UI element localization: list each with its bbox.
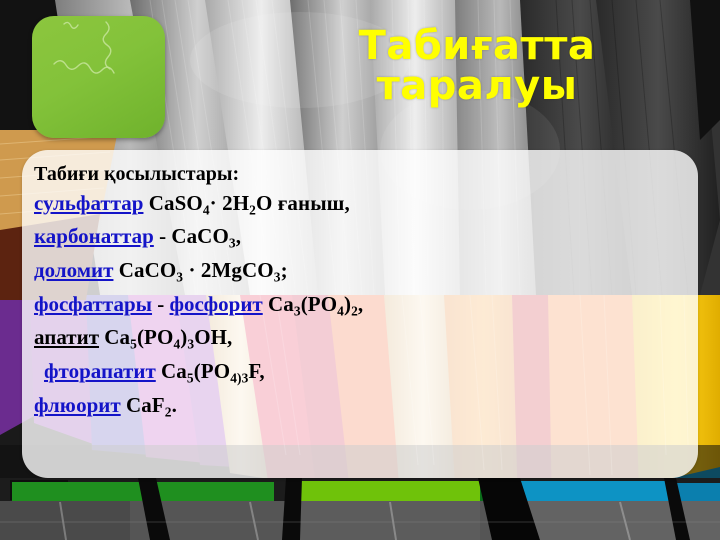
list-item: фторапатит Ca5(PO4)3F, [34, 360, 680, 383]
separator [143, 191, 148, 215]
term-link-phosphates[interactable]: фосфаттары [34, 292, 152, 316]
green-decorative-card [32, 16, 165, 138]
formula-caso4-2h2o: CaSO4· 2H2O ғаныш, [149, 191, 350, 215]
separator [113, 258, 118, 282]
slide: Табиғатта таралуы Табиғи қосылыстары: су… [0, 0, 720, 540]
separator: - [152, 292, 170, 316]
term-link-dolomite[interactable]: доломит [34, 258, 113, 282]
term-link-phosphorite[interactable]: фосфорит [170, 292, 263, 316]
term-link-carbonates[interactable]: карбонаттар [34, 224, 154, 248]
term-link-fluorapatite[interactable]: фторапатит [44, 359, 156, 383]
formula-caco3-2mgco3: CaCO3 · 2MgCO3; [119, 258, 288, 282]
content-heading: Табиғи қосылыстары: [34, 164, 680, 186]
formula-ca5po43oh: Ca5(PO4)3OH, [104, 325, 232, 349]
formula-caco3: CaCO3, [171, 224, 241, 248]
slide-title: Табиғатта таралуы [248, 26, 706, 106]
formula-ca3po42: Ca3(PO4)2, [268, 292, 363, 316]
list-item: апатит Ca5(PO4)3OH, [34, 326, 680, 349]
list-item: флюорит CaF2. [34, 394, 680, 417]
term-link-fluorite[interactable]: флюорит [34, 393, 121, 417]
list-item: доломит CaCO3 · 2MgCO3; [34, 259, 680, 282]
list-item: фосфаттары - фосфорит Ca3(PO4)2, [34, 293, 680, 316]
formula-caf2: CaF2. [126, 393, 177, 417]
term-link-sulfates[interactable]: сульфаттар [34, 191, 143, 215]
squiggle-decoration-icon [32, 16, 165, 138]
content-panel: Табиғи қосылыстары: сульфаттар CaSO4· 2H… [22, 150, 698, 478]
list-item: карбонаттар - CaCO3, [34, 225, 680, 248]
pencil-shaft-band [0, 478, 720, 540]
separator: - [154, 224, 172, 248]
pencil-shafts-svg [0, 478, 720, 540]
formula-ca5po43f: Ca5(PO4)3F, [161, 359, 265, 383]
term-link-apatite[interactable]: апатит [34, 325, 99, 349]
list-item: сульфаттар CaSO4· 2H2O ғаныш, [34, 192, 680, 215]
